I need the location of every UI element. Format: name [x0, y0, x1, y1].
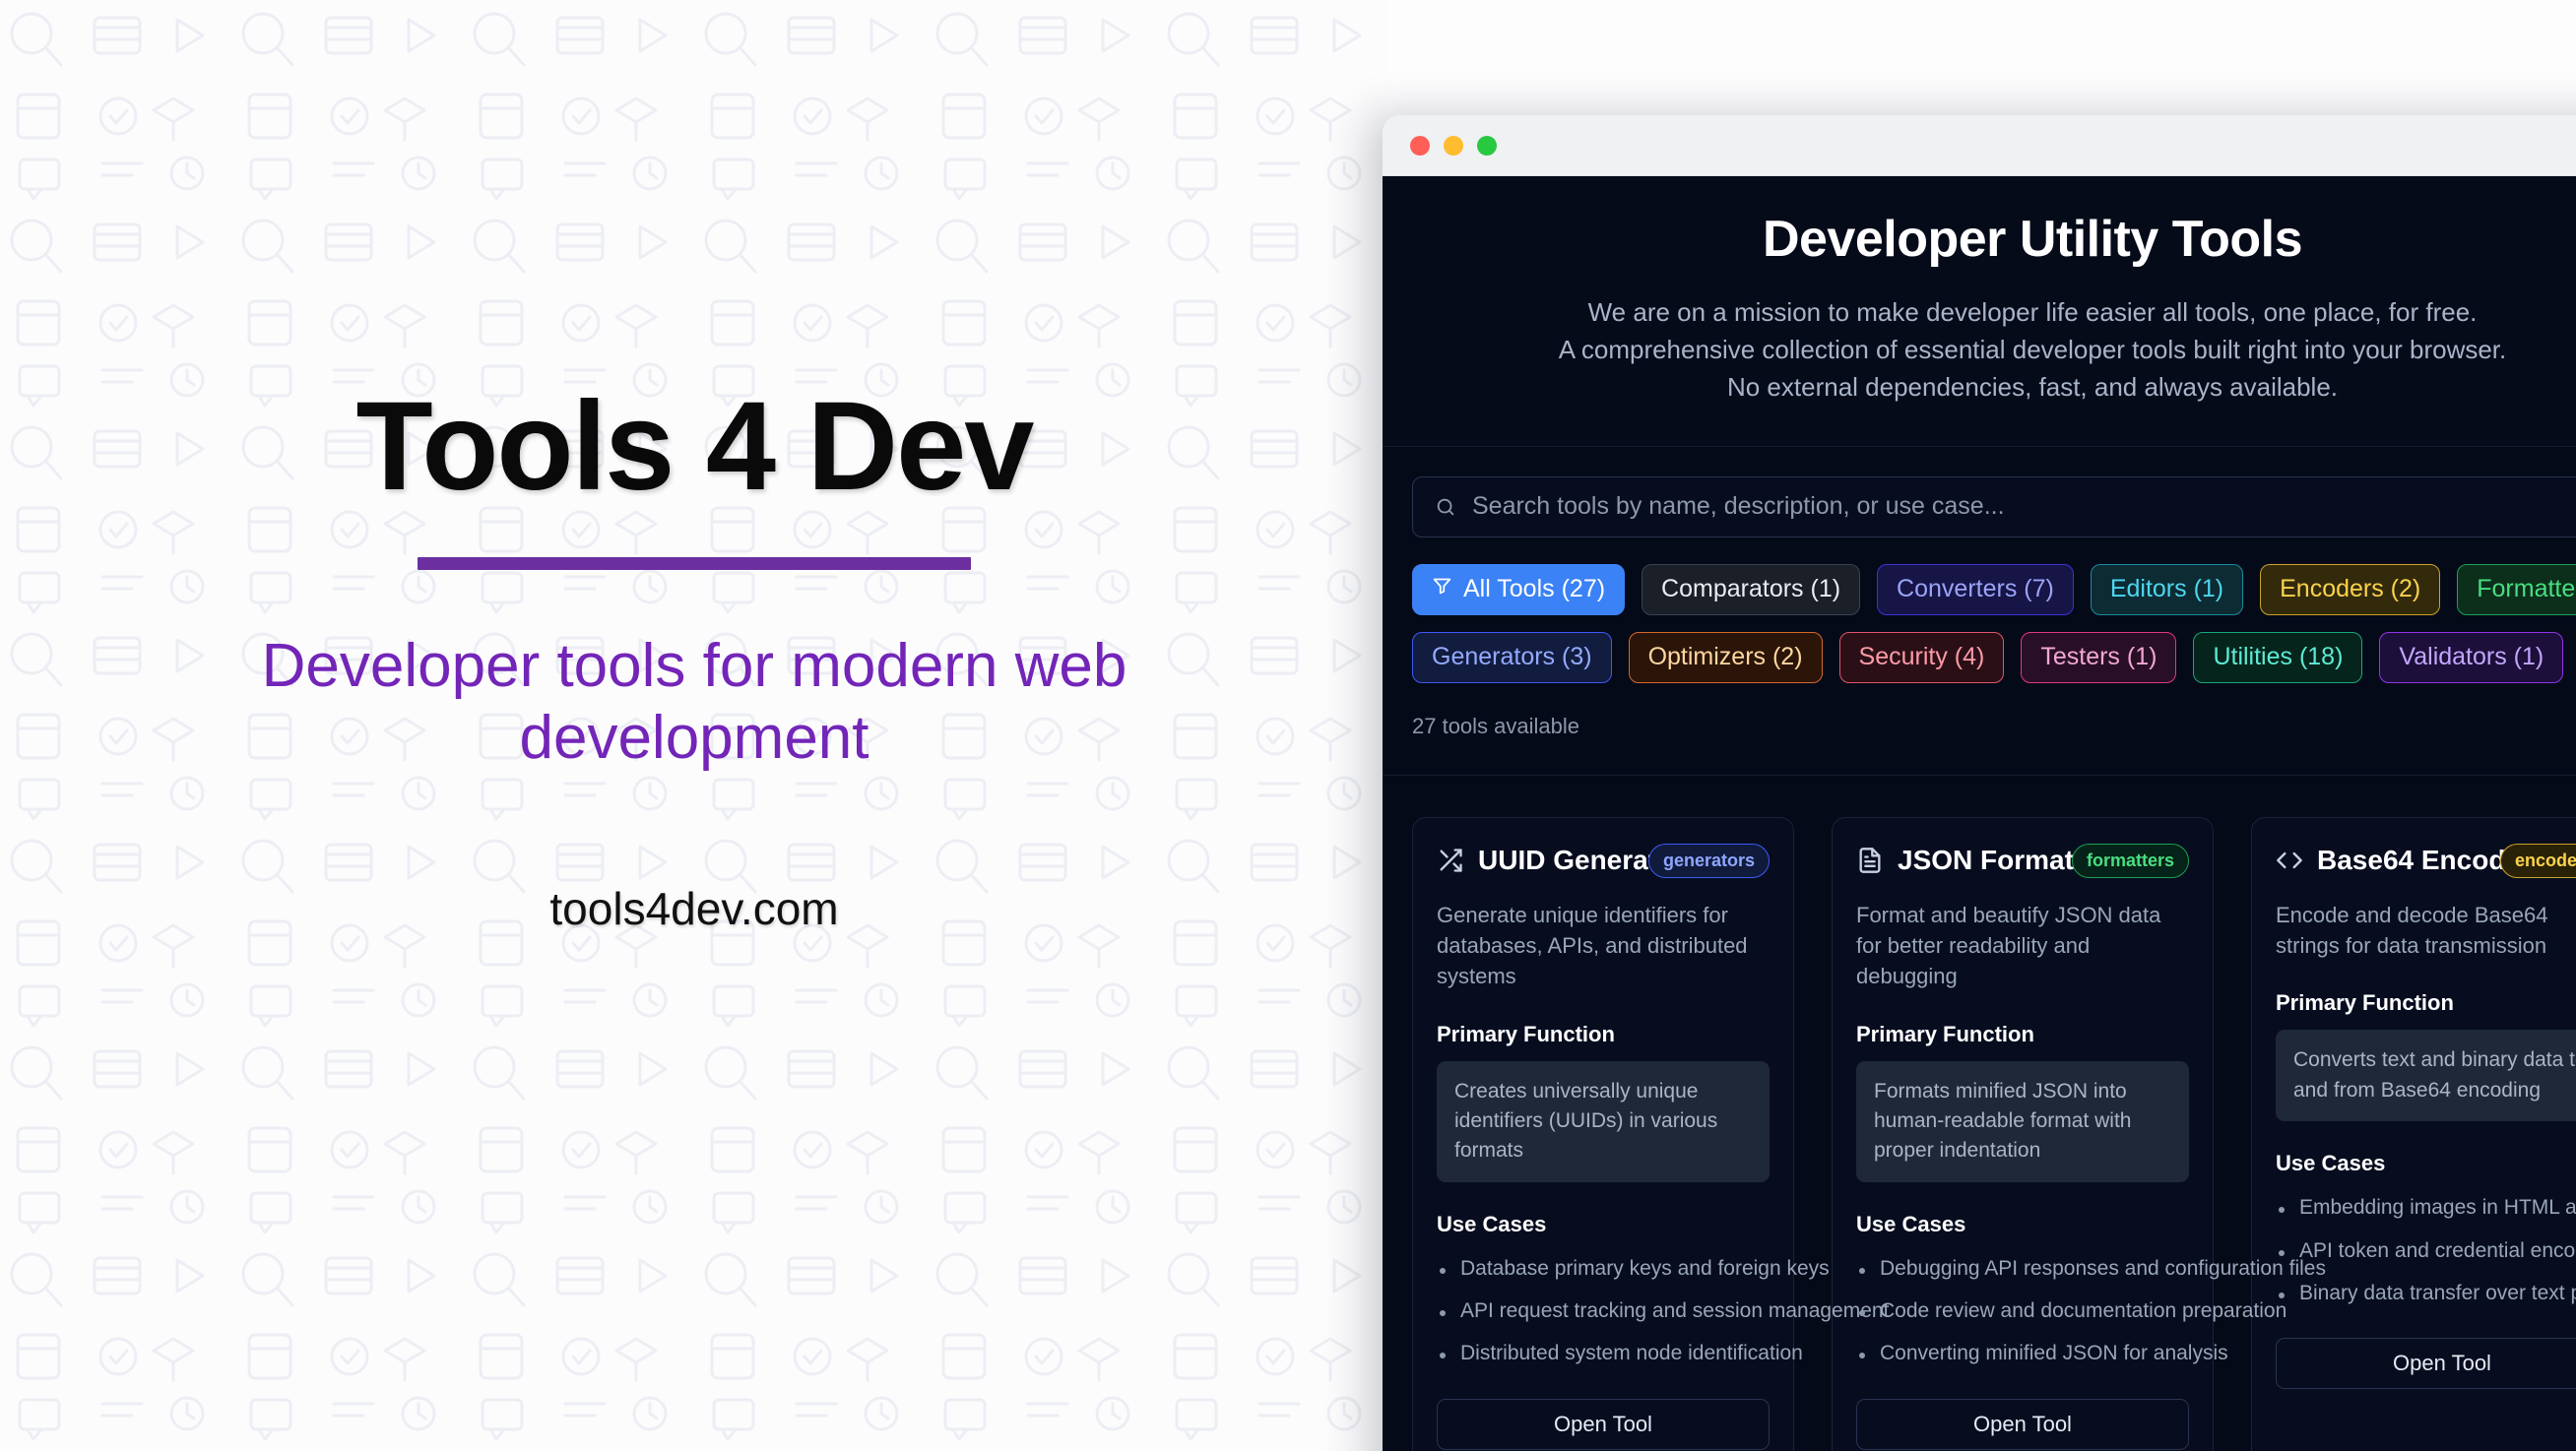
search-input[interactable] [1472, 492, 2576, 521]
category-filter-chips: All Tools (27)Comparators (1)Converters … [1412, 564, 2576, 683]
filter-chip-label: Converters (7) [1897, 575, 2054, 603]
filter-chip-label: Generators (3) [1432, 643, 1592, 671]
promo-divider [418, 557, 971, 570]
filter-chip-generators[interactable]: Generators (3) [1412, 632, 1612, 683]
use-case-item: API request tracking and session managem… [1437, 1297, 1770, 1324]
tools-grid: UUID GeneratorgeneratorsGenerate unique … [1412, 817, 2576, 1451]
tools-grid-section: UUID GeneratorgeneratorsGenerate unique … [1383, 775, 2576, 1451]
filter-chip-label: Validators (1) [2399, 643, 2544, 671]
use-cases-list: Database primary keys and foreign keysAP… [1437, 1255, 1770, 1367]
use-case-item: API token and credential encoding [2276, 1237, 2576, 1264]
primary-function-text: Converts text and binary data to and fro… [2276, 1030, 2576, 1121]
promo-content: Tools 4 Dev Developer tools for modern w… [0, 0, 1388, 1451]
page-title: Developer Utility Tools [1412, 210, 2576, 269]
screenshot-root: Tools 4 Dev Developer tools for modern w… [0, 0, 2576, 1451]
file-text-icon [1856, 847, 1884, 874]
shuffle-icon [1437, 847, 1464, 874]
tool-category-badge: formatters [2072, 844, 2189, 878]
filter-chip-label: Comparators (1) [1661, 575, 1840, 603]
use-case-item: Debugging API responses and configuratio… [1856, 1255, 2189, 1282]
filter-chip-label: Security (4) [1859, 643, 1985, 671]
close-window-button[interactable] [1410, 136, 1430, 156]
tool-card-title-group: JSON Formatter [1856, 845, 2062, 876]
filter-chip-formatters[interactable]: Formatters (4) [2457, 564, 2576, 615]
use-case-item: Database primary keys and foreign keys [1437, 1255, 1770, 1282]
minimize-window-button[interactable] [1444, 136, 1463, 156]
filter-chip-utilities[interactable]: Utilities (18) [2193, 632, 2362, 683]
hero-line: A comprehensive collection of essential … [1412, 332, 2576, 369]
use-cases-label: Use Cases [1856, 1212, 2189, 1237]
window-titlebar [1383, 115, 2576, 176]
primary-function-label: Primary Function [2276, 990, 2576, 1016]
app-viewport: Developer Utility Tools We are on a miss… [1383, 176, 2576, 1451]
use-case-item: Code review and documentation preparatio… [1856, 1297, 2189, 1324]
tool-card-header: Base64 Encoderencoders [2276, 844, 2576, 878]
tool-card[interactable]: JSON FormatterformattersFormat and beaut… [1832, 817, 2214, 1451]
search-box[interactable] [1412, 476, 2576, 537]
primary-function-label: Primary Function [1856, 1022, 2189, 1047]
use-case-item: Embedding images in HTML and CSS [2276, 1194, 2576, 1221]
use-cases-label: Use Cases [1437, 1212, 1770, 1237]
tools-count-label: 27 tools available [1412, 714, 2576, 775]
search-icon [1435, 496, 1456, 518]
browser-window: Developer Utility Tools We are on a miss… [1383, 115, 2576, 1451]
use-cases-list: Embedding images in HTML and CSSAPI toke… [2276, 1194, 2576, 1306]
tool-description: Generate unique identifiers for database… [1437, 900, 1770, 992]
hero-line: We are on a mission to make developer li… [1412, 294, 2576, 332]
tool-card[interactable]: Base64 EncoderencodersEncode and decode … [2251, 817, 2576, 1451]
filter-chip-testers[interactable]: Testers (1) [2021, 632, 2176, 683]
maximize-window-button[interactable] [1477, 136, 1497, 156]
filter-chip-label: Encoders (2) [2280, 575, 2420, 603]
use-case-item: Binary data transfer over text protocols [2276, 1280, 2576, 1306]
filter-icon [1432, 575, 1452, 603]
open-tool-button[interactable]: Open Tool [1856, 1399, 2189, 1450]
tool-card-header: UUID Generatorgenerators [1437, 844, 1770, 878]
code-icon [2276, 847, 2303, 874]
search-and-filters: All Tools (27)Comparators (1)Converters … [1383, 447, 2576, 775]
use-case-item: Distributed system node identification [1437, 1340, 1770, 1366]
promo-title: Tools 4 Dev [356, 384, 1033, 510]
filter-chip-comparators[interactable]: Comparators (1) [1642, 564, 1860, 615]
primary-function-label: Primary Function [1437, 1022, 1770, 1047]
hero-line: No external dependencies, fast, and alwa… [1412, 369, 2576, 407]
use-case-item: Converting minified JSON for analysis [1856, 1340, 2189, 1366]
filter-chip-security[interactable]: Security (4) [1839, 632, 2005, 683]
filter-chip-label: Optimizers (2) [1648, 643, 1803, 671]
tool-card[interactable]: UUID GeneratorgeneratorsGenerate unique … [1412, 817, 1794, 1451]
tool-description: Format and beautify JSON data for better… [1856, 900, 2189, 992]
filter-chip-label: Editors (1) [2110, 575, 2223, 603]
primary-function-text: Creates universally unique identifiers (… [1437, 1061, 1770, 1182]
promo-url: tools4dev.com [549, 882, 838, 935]
filter-chip-validators[interactable]: Validators (1) [2379, 632, 2563, 683]
filter-chip-all[interactable]: All Tools (27) [1412, 564, 1625, 615]
filter-chip-converters[interactable]: Converters (7) [1877, 564, 2074, 615]
hero-section: Developer Utility Tools We are on a miss… [1383, 176, 2576, 447]
filter-chip-encoders[interactable]: Encoders (2) [2260, 564, 2440, 615]
hero-description: We are on a mission to make developer li… [1412, 294, 2576, 407]
filter-chip-optimizers[interactable]: Optimizers (2) [1629, 632, 1823, 683]
promo-subtitle: Developer tools for modern web developme… [162, 631, 1226, 774]
filter-chip-editors[interactable]: Editors (1) [2091, 564, 2243, 615]
tool-category-badge: encoders [2500, 844, 2576, 878]
use-cases-list: Debugging API responses and configuratio… [1856, 1255, 2189, 1367]
open-tool-button[interactable]: Open Tool [1437, 1399, 1770, 1450]
tool-card-title-group: Base64 Encoder [2276, 845, 2490, 876]
filter-chip-label: Formatters (4) [2477, 575, 2576, 603]
open-tool-button[interactable]: Open Tool [2276, 1338, 2576, 1389]
filter-chip-label: All Tools (27) [1463, 575, 1605, 603]
filter-chip-label: Utilities (18) [2213, 643, 2343, 671]
tool-description: Encode and decode Base64 strings for dat… [2276, 900, 2576, 961]
tool-card-title-group: UUID Generator [1437, 845, 1639, 876]
use-cases-label: Use Cases [2276, 1151, 2576, 1176]
tool-category-badge: generators [1648, 844, 1770, 878]
tool-card-header: JSON Formatterformatters [1856, 844, 2189, 878]
filter-chip-label: Testers (1) [2040, 643, 2157, 671]
primary-function-text: Formats minified JSON into human-readabl… [1856, 1061, 2189, 1182]
promo-panel: Tools 4 Dev Developer tools for modern w… [0, 0, 1388, 1451]
